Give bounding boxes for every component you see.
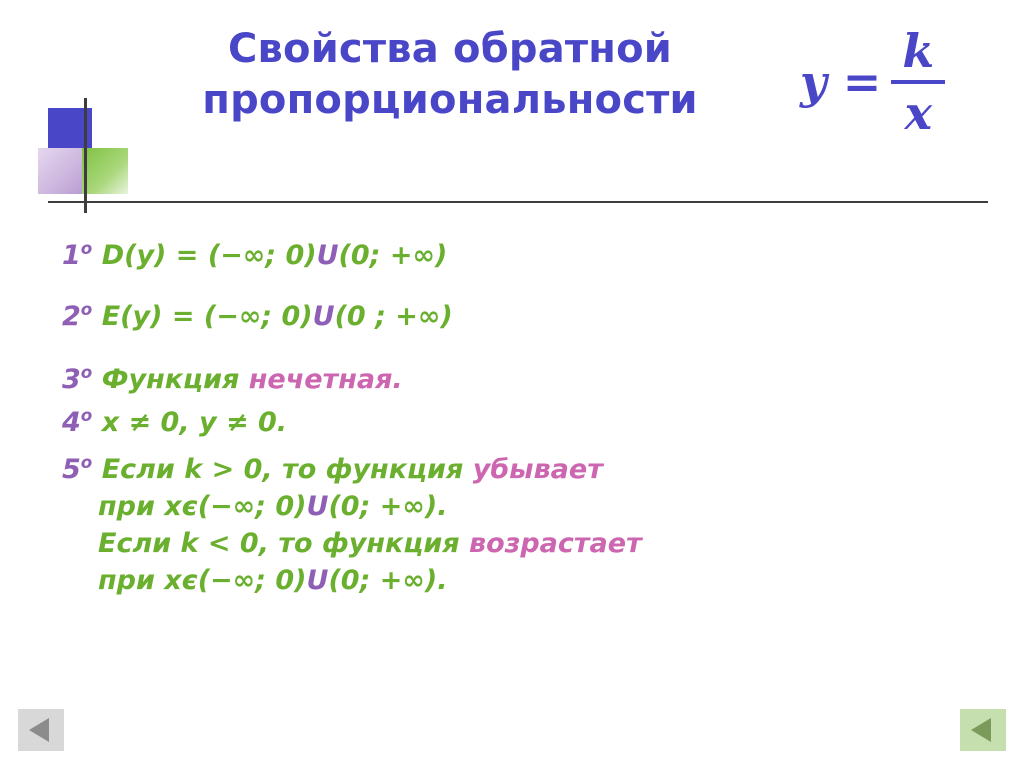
property-item-5: 5o Если k > 0, то функция убывает при xє… [62, 452, 972, 596]
previous-slide-button[interactable] [18, 709, 64, 751]
properties-list: 1o D(y) = (−∞; 0)U(0; +∞) 2o E(y) = (−∞;… [62, 238, 972, 602]
property-1-degree: o [81, 238, 93, 258]
title-line-1: Свойства обратной [120, 24, 780, 75]
property-item-4: 4o x ≠ 0, y ≠ 0. [62, 405, 972, 438]
property-2-number: 2 [62, 301, 81, 332]
property-5-degree: o [81, 452, 93, 472]
triangle-left-icon [29, 718, 49, 742]
property-4-number: 4 [62, 407, 81, 438]
page-title: Свойства обратной пропорциональности [120, 24, 780, 126]
vertical-rule [84, 98, 87, 213]
property-3-emphasis: нечетная. [249, 364, 403, 395]
property-5-line-2: при xє(−∞; 0)U(0; +∞). [62, 491, 972, 522]
fraction-numerator: k [902, 28, 934, 78]
property-5-line-2-text: при xє(−∞; 0) [98, 491, 307, 522]
horizontal-rule [48, 201, 988, 203]
property-5-number: 5 [62, 454, 81, 485]
property-5-line-2-union: U [307, 491, 329, 522]
property-3-degree: o [81, 362, 93, 382]
property-2-degree: o [81, 299, 93, 319]
property-item-3: 3o Функция нечетная. [62, 362, 972, 395]
property-1-union: U [317, 240, 339, 271]
next-slide-button[interactable] [960, 709, 1006, 751]
fraction-bar [891, 80, 945, 84]
property-item-2: 2o E(y) = (−∞; 0)U(0 ; +∞) [62, 299, 972, 332]
formula-left-hand-side: y = [800, 55, 881, 109]
property-2-union: U [313, 301, 335, 332]
property-4-text: x ≠ 0, y ≠ 0. [102, 407, 287, 438]
formula-y-equals-k-over-x: y = k x [800, 28, 945, 136]
fraction-denominator: x [905, 86, 932, 136]
property-3-number: 3 [62, 364, 81, 395]
property-2-text-2: (0 ; +∞) [335, 301, 453, 332]
fraction: k x [891, 28, 945, 136]
property-1-number: 1 [62, 240, 81, 271]
violet-square-icon [38, 148, 84, 194]
property-1-text-2: (0; +∞) [339, 240, 448, 271]
property-4-degree: o [81, 405, 93, 425]
property-5-line-3-text: Если k < 0, то функция [98, 528, 460, 559]
property-5-line-4-union: U [307, 565, 329, 596]
property-5-line-4-text-2: (0; +∞). [328, 565, 447, 596]
property-5-line-3: Если k < 0, то функция возрастает [62, 528, 972, 559]
property-5-line-4-text: при xє(−∞; 0) [98, 565, 307, 596]
property-item-1: 1o D(y) = (−∞; 0)U(0; +∞) [62, 238, 972, 271]
property-5-line-2-text-2: (0; +∞). [328, 491, 447, 522]
property-5-line-1-emphasis: убывает [473, 454, 603, 485]
title-line-2: пропорциональности [120, 75, 780, 126]
property-5-line-3-emphasis: возрастает [469, 528, 642, 559]
property-1-text: D(y) = (−∞; 0) [102, 240, 317, 271]
property-5-line-1: 5o Если k > 0, то функция убывает [62, 452, 972, 485]
green-square-icon [82, 148, 128, 194]
property-5-line-4: при xє(−∞; 0)U(0; +∞). [62, 565, 972, 596]
triangle-left-icon-2 [971, 718, 991, 742]
property-3-text: Функция [102, 364, 240, 395]
property-2-text: E(y) = (−∞; 0) [102, 301, 313, 332]
property-5-line-1-text: Если k > 0, то функция [102, 454, 464, 485]
